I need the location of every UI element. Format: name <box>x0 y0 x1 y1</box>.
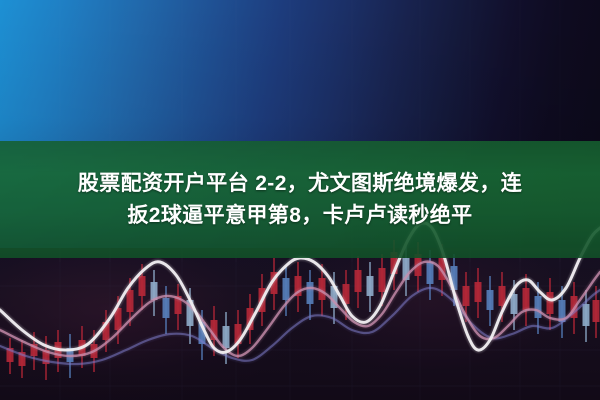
headline-line-2: 扳2球逼平意甲第8，卡卢卢读秒绝平 <box>127 202 472 229</box>
banner-image: 股票配资开户平台 2-2，尤文图斯绝境爆发，连 扳2球逼平意甲第8，卡卢卢读秒绝… <box>0 0 600 400</box>
headline-line-1: 股票配资开户平台 2-2，尤文图斯绝境爆发，连 <box>78 170 522 197</box>
headline-text-container: 股票配资开户平台 2-2，尤文图斯绝境爆发，连 扳2球逼平意甲第8，卡卢卢读秒绝… <box>0 141 600 258</box>
